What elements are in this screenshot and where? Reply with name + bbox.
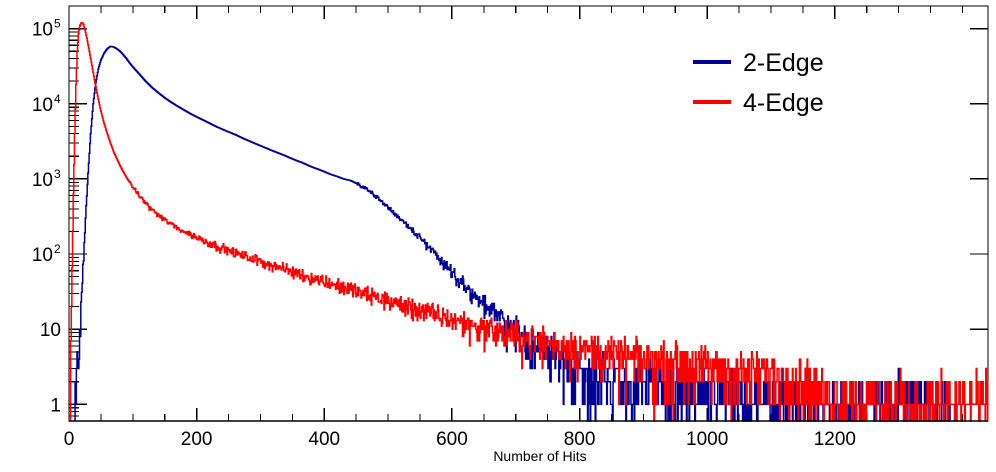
y-tick-label: 1 [50,395,61,416]
y-axis-tick-labels: 110102103104105 [32,17,61,417]
x-tick-label: 1200 [814,429,856,450]
data-series-group [69,23,988,421]
svg-text:4: 4 [54,92,61,106]
svg-text:10: 10 [40,320,61,341]
svg-text:2: 2 [54,242,61,256]
chart-legend: 2-Edge4-Edge [693,49,824,117]
svg-text:3: 3 [54,167,61,181]
x-axis-title: Number of Hits [493,448,586,464]
x-tick-label: 1000 [686,429,728,450]
histogram-plot: 110102103104105 020040060080010001200 Nu… [0,0,996,472]
y-tick-label: 102 [32,242,61,266]
y-tick-label: 104 [32,92,61,116]
y-tick-label: 103 [32,167,61,191]
x-tick-label: 400 [308,429,340,450]
x-tick-label: 200 [181,429,213,450]
svg-text:10: 10 [32,95,53,116]
x-tick-label: 0 [64,429,75,450]
svg-text:10: 10 [32,245,53,266]
svg-text:5: 5 [54,17,61,31]
chart-canvas: 110102103104105 020040060080010001200 Nu… [0,0,996,472]
x-axis-tick-labels: 020040060080010001200 [64,429,856,450]
x-axis-ticks [69,6,962,421]
legend-label-2-edge: 2-Edge [743,49,824,77]
svg-text:10: 10 [32,170,53,191]
x-tick-label: 600 [436,429,468,450]
x-tick-label: 800 [564,429,596,450]
svg-text:10: 10 [32,20,53,41]
legend-label-4-edge: 4-Edge [743,89,824,117]
y-tick-label: 10 [40,320,61,341]
y-tick-label: 105 [32,17,61,41]
svg-text:1: 1 [50,395,61,416]
